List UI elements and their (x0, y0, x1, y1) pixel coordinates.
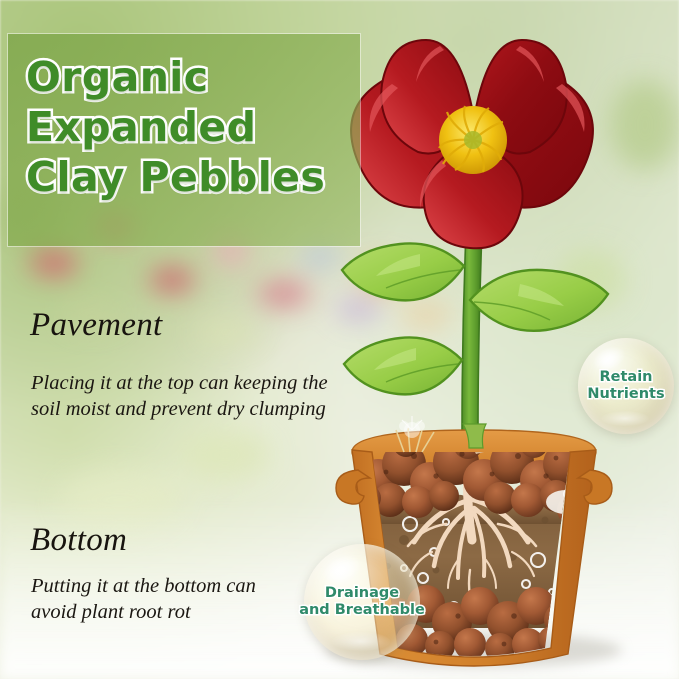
callout-retain-line-2: Nutrients (587, 386, 664, 403)
section-body-bottom: Putting it at the bottom can avoid plant… (31, 573, 303, 625)
section-heading-pavement: Pavement (30, 307, 163, 344)
title-line-2: Expanded (26, 102, 366, 152)
callout-label-retain-nutrients: Retain Nutrients (587, 369, 664, 403)
title-line-3: Clay Pebbles (26, 152, 366, 202)
callout-drainage-line-2: and Breathable (299, 602, 425, 619)
callout-retain-line-1: Retain (587, 369, 664, 386)
product-infographic: Organic Expanded Clay Pebbles Pavement P… (0, 0, 679, 679)
section-heading-bottom: Bottom (30, 522, 127, 559)
product-title: Organic Expanded Clay Pebbles (26, 52, 366, 202)
callout-bubble-retain-nutrients: Retain Nutrients (578, 338, 674, 434)
callout-bubble-drainage-breathable: Drainage and Breathable (304, 544, 420, 660)
section-body-pavement: Placing it at the top can keeping the so… (31, 370, 349, 422)
callout-label-drainage-breathable: Drainage and Breathable (299, 585, 425, 619)
callout-drainage-line-1: Drainage (299, 585, 425, 602)
title-line-1: Organic (26, 52, 366, 102)
